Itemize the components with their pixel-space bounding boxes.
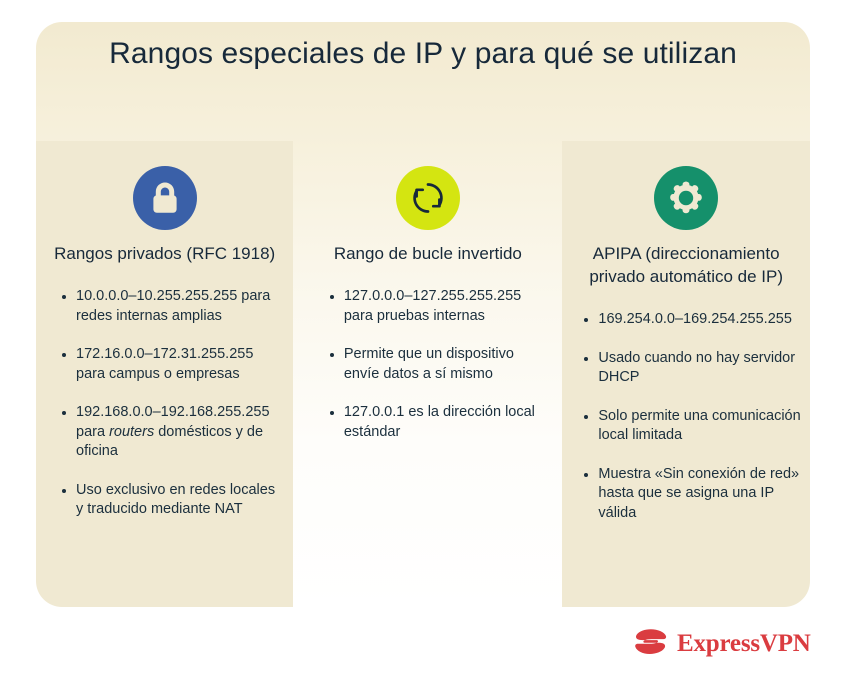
list-item: 10.0.0.0–10.255.255.255 para redes inter… [62,287,279,326]
column-heading: Rango de bucle invertido [312,242,544,265]
expressvpn-wordmark: ExpressVPN [677,631,811,656]
bullet-list: 10.0.0.0–10.255.255.255 para redes inter… [36,287,293,520]
column-heading: APIPA (direccionamiento privado automáti… [562,242,810,288]
column-loopback-range: Rango de bucle invertido 127.0.0.0–127.2… [312,141,544,607]
list-item: Muestra «Sin conexión de red» hasta que … [584,465,802,524]
gear-icon [654,166,718,230]
list-item: Permite que un dispositivo envíe datos a… [330,345,538,384]
bullet-list: 127.0.0.0–127.255.255.255 para pruebas i… [312,287,544,442]
list-item: 172.16.0.0–172.31.255.255 para campus o … [62,345,279,384]
bullet-list: 169.254.0.0–169.254.255.255 Usado cuando… [562,310,810,523]
infographic-root: Rangos especiales de IP y para qué se ut… [0,0,855,687]
column-divider-gap [544,141,563,607]
list-item: 127.0.0.0–127.255.255.255 para pruebas i… [330,287,538,326]
content-card: Rangos especiales de IP y para qué se ut… [36,22,810,607]
title-container: Rangos especiales de IP y para qué se ut… [36,34,810,74]
list-item: Solo permite una comunicación local limi… [584,407,802,446]
columns-container: Rangos privados (RFC 1918) 10.0.0.0–10.2… [36,141,810,607]
list-item: 169.254.0.0–169.254.255.255 [584,310,802,330]
lock-icon [133,166,197,230]
column-divider-gap [293,141,312,607]
column-apipa: APIPA (direccionamiento privado automáti… [562,141,810,607]
loopback-icon [396,166,460,230]
list-item: 192.168.0.0–192.168.255.255 para routers… [62,403,279,462]
page-title: Rangos especiales de IP y para qué se ut… [36,34,810,74]
column-private-ranges: Rangos privados (RFC 1918) 10.0.0.0–10.2… [36,141,293,607]
expressvpn-logo: ExpressVPN [634,628,811,658]
expressvpn-mark-icon [634,628,668,658]
column-heading: Rangos privados (RFC 1918) [36,242,293,265]
list-item: 127.0.0.1 es la dirección local estándar [330,403,538,442]
list-item: Uso exclusivo en redes locales y traduci… [62,481,279,520]
list-item: Usado cuando no hay servidor DHCP [584,349,802,388]
